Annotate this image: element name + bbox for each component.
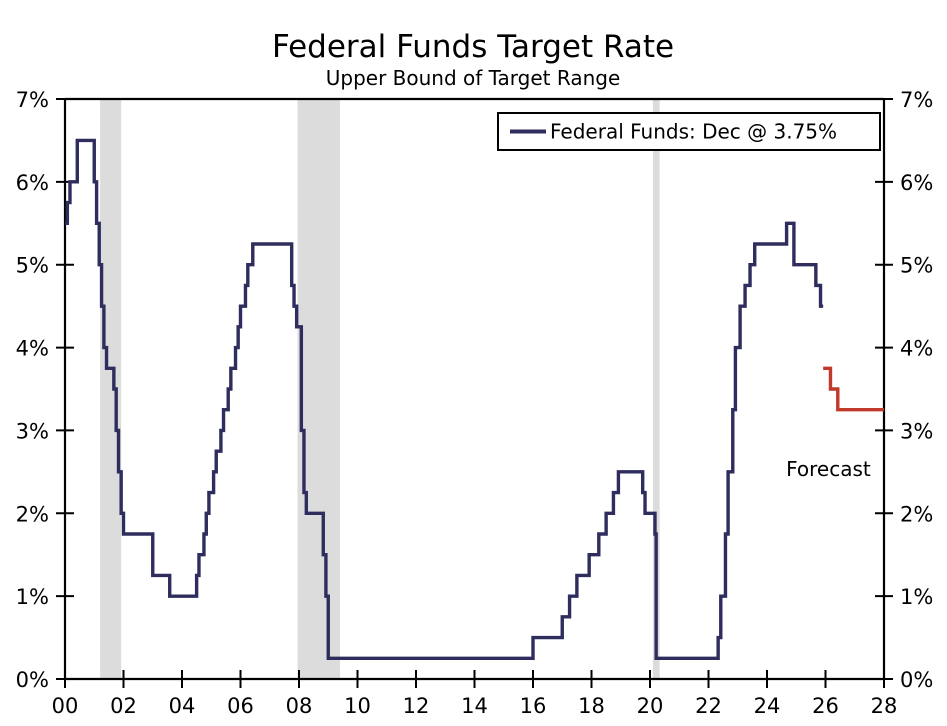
- y-tick-label-left-3: 3%: [16, 419, 49, 443]
- y-tick-label-right-6: 6%: [900, 171, 933, 195]
- chart-annotations: Forecast: [786, 457, 871, 481]
- federal-funds-chart: Federal Funds Target Rate Upper Bound of…: [0, 0, 947, 726]
- chart-subtitle: Upper Bound of Target Range: [326, 66, 621, 90]
- recession-band-0: [100, 99, 121, 679]
- y-tick-label-right-0: 0%: [900, 668, 933, 692]
- x-tick-label-8: 16: [520, 694, 547, 718]
- recession-band-1: [298, 99, 340, 679]
- y-tick-label-right-4: 4%: [900, 337, 933, 361]
- x-tick-label-3: 06: [227, 694, 254, 718]
- y-tick-label-left-6: 6%: [16, 171, 49, 195]
- x-tick-label-13: 26: [812, 694, 839, 718]
- y-tick-label-right-7: 7%: [900, 88, 933, 112]
- x-tick-label-10: 20: [637, 694, 664, 718]
- x-tick-label-1: 02: [110, 694, 137, 718]
- y-tick-label-right-3: 3%: [900, 419, 933, 443]
- chart-legend[interactable]: Federal Funds: Dec @ 3.75%: [498, 113, 880, 150]
- x-tick-label-14: 28: [871, 694, 898, 718]
- annotation-0: Forecast: [786, 457, 871, 481]
- x-tick-label-9: 18: [578, 694, 605, 718]
- x-tick-label-0: 00: [52, 694, 79, 718]
- y-tick-label-left-0: 0%: [16, 668, 49, 692]
- x-tick-label-12: 24: [754, 694, 781, 718]
- x-tick-label-6: 12: [403, 694, 430, 718]
- y-tick-label-right-5: 5%: [900, 254, 933, 278]
- y-tick-label-left-5: 5%: [16, 254, 49, 278]
- y-tick-label-left-2: 2%: [16, 502, 49, 526]
- chart-container: Federal Funds Target Rate Upper Bound of…: [0, 0, 947, 726]
- chart-title: Federal Funds Target Rate: [272, 29, 674, 65]
- x-tick-label-4: 08: [286, 694, 313, 718]
- x-tick-label-5: 10: [344, 694, 371, 718]
- y-tick-label-left-1: 1%: [16, 585, 49, 609]
- y-tick-label-left-7: 7%: [16, 88, 49, 112]
- x-tick-label-7: 14: [461, 694, 488, 718]
- legend-label-0: Federal Funds: Dec @ 3.75%: [550, 120, 837, 144]
- x-tick-label-2: 04: [169, 694, 196, 718]
- x-tick-label-11: 22: [695, 694, 722, 718]
- y-tick-label-right-1: 1%: [900, 585, 933, 609]
- y-tick-label-left-4: 4%: [16, 337, 49, 361]
- y-tick-label-right-2: 2%: [900, 502, 933, 526]
- chart-background: [0, 0, 947, 726]
